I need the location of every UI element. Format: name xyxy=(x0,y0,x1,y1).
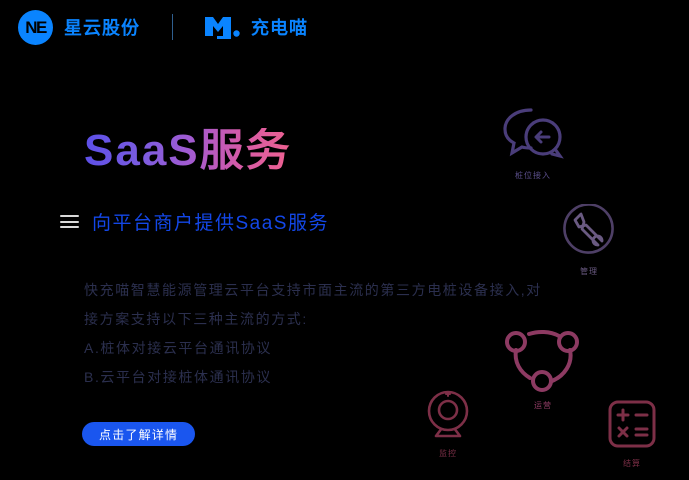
feature-settlement[interactable]: 结算 xyxy=(606,398,658,469)
page-header: NE 星云股份 充电喵 xyxy=(0,0,689,54)
hamburger-icon xyxy=(60,215,79,228)
chat-bubble-arrow-icon xyxy=(497,104,569,167)
wrench-tool-icon xyxy=(561,204,617,263)
brand-monogram: NE xyxy=(25,19,46,36)
xingyun-logo-icon: NE xyxy=(18,10,53,45)
feature-label: 管理 xyxy=(580,266,598,277)
feature-label: 监控 xyxy=(439,448,457,459)
feature-label: 运营 xyxy=(534,400,552,411)
feature-management[interactable]: 管理 xyxy=(561,204,617,277)
hero-subtitle: 向平台商户提供SaaS服务 xyxy=(92,208,329,235)
body-line: 快充喵智慧能源管理云平台支持市面主流的第三方电桩设备接入,对 xyxy=(84,276,584,305)
feature-label: 结算 xyxy=(623,458,641,469)
hero-subtitle-row: 向平台商户提供SaaS服务 xyxy=(60,208,329,235)
feature-monitoring[interactable]: 监控 xyxy=(424,388,472,459)
monitor-camera-icon xyxy=(424,388,472,445)
feature-operations[interactable]: 运营 xyxy=(504,328,582,411)
calculator-icon xyxy=(606,398,658,455)
page-title: SaaS服务 xyxy=(84,128,292,174)
cat-face-logo-icon xyxy=(204,16,242,40)
network-share-icon xyxy=(504,328,582,397)
brand-secondary-name: 充电喵 xyxy=(251,14,308,40)
brand-primary[interactable]: NE 星云股份 xyxy=(18,10,140,45)
feature-chat-access[interactable]: 桩位接入 xyxy=(497,104,569,181)
learn-more-button[interactable]: 点击了解详情 xyxy=(82,422,195,446)
header-divider xyxy=(172,14,173,40)
brand-secondary[interactable]: 充电喵 xyxy=(204,14,308,40)
brand-primary-name: 星云股份 xyxy=(64,14,140,40)
feature-label: 桩位接入 xyxy=(515,170,551,181)
